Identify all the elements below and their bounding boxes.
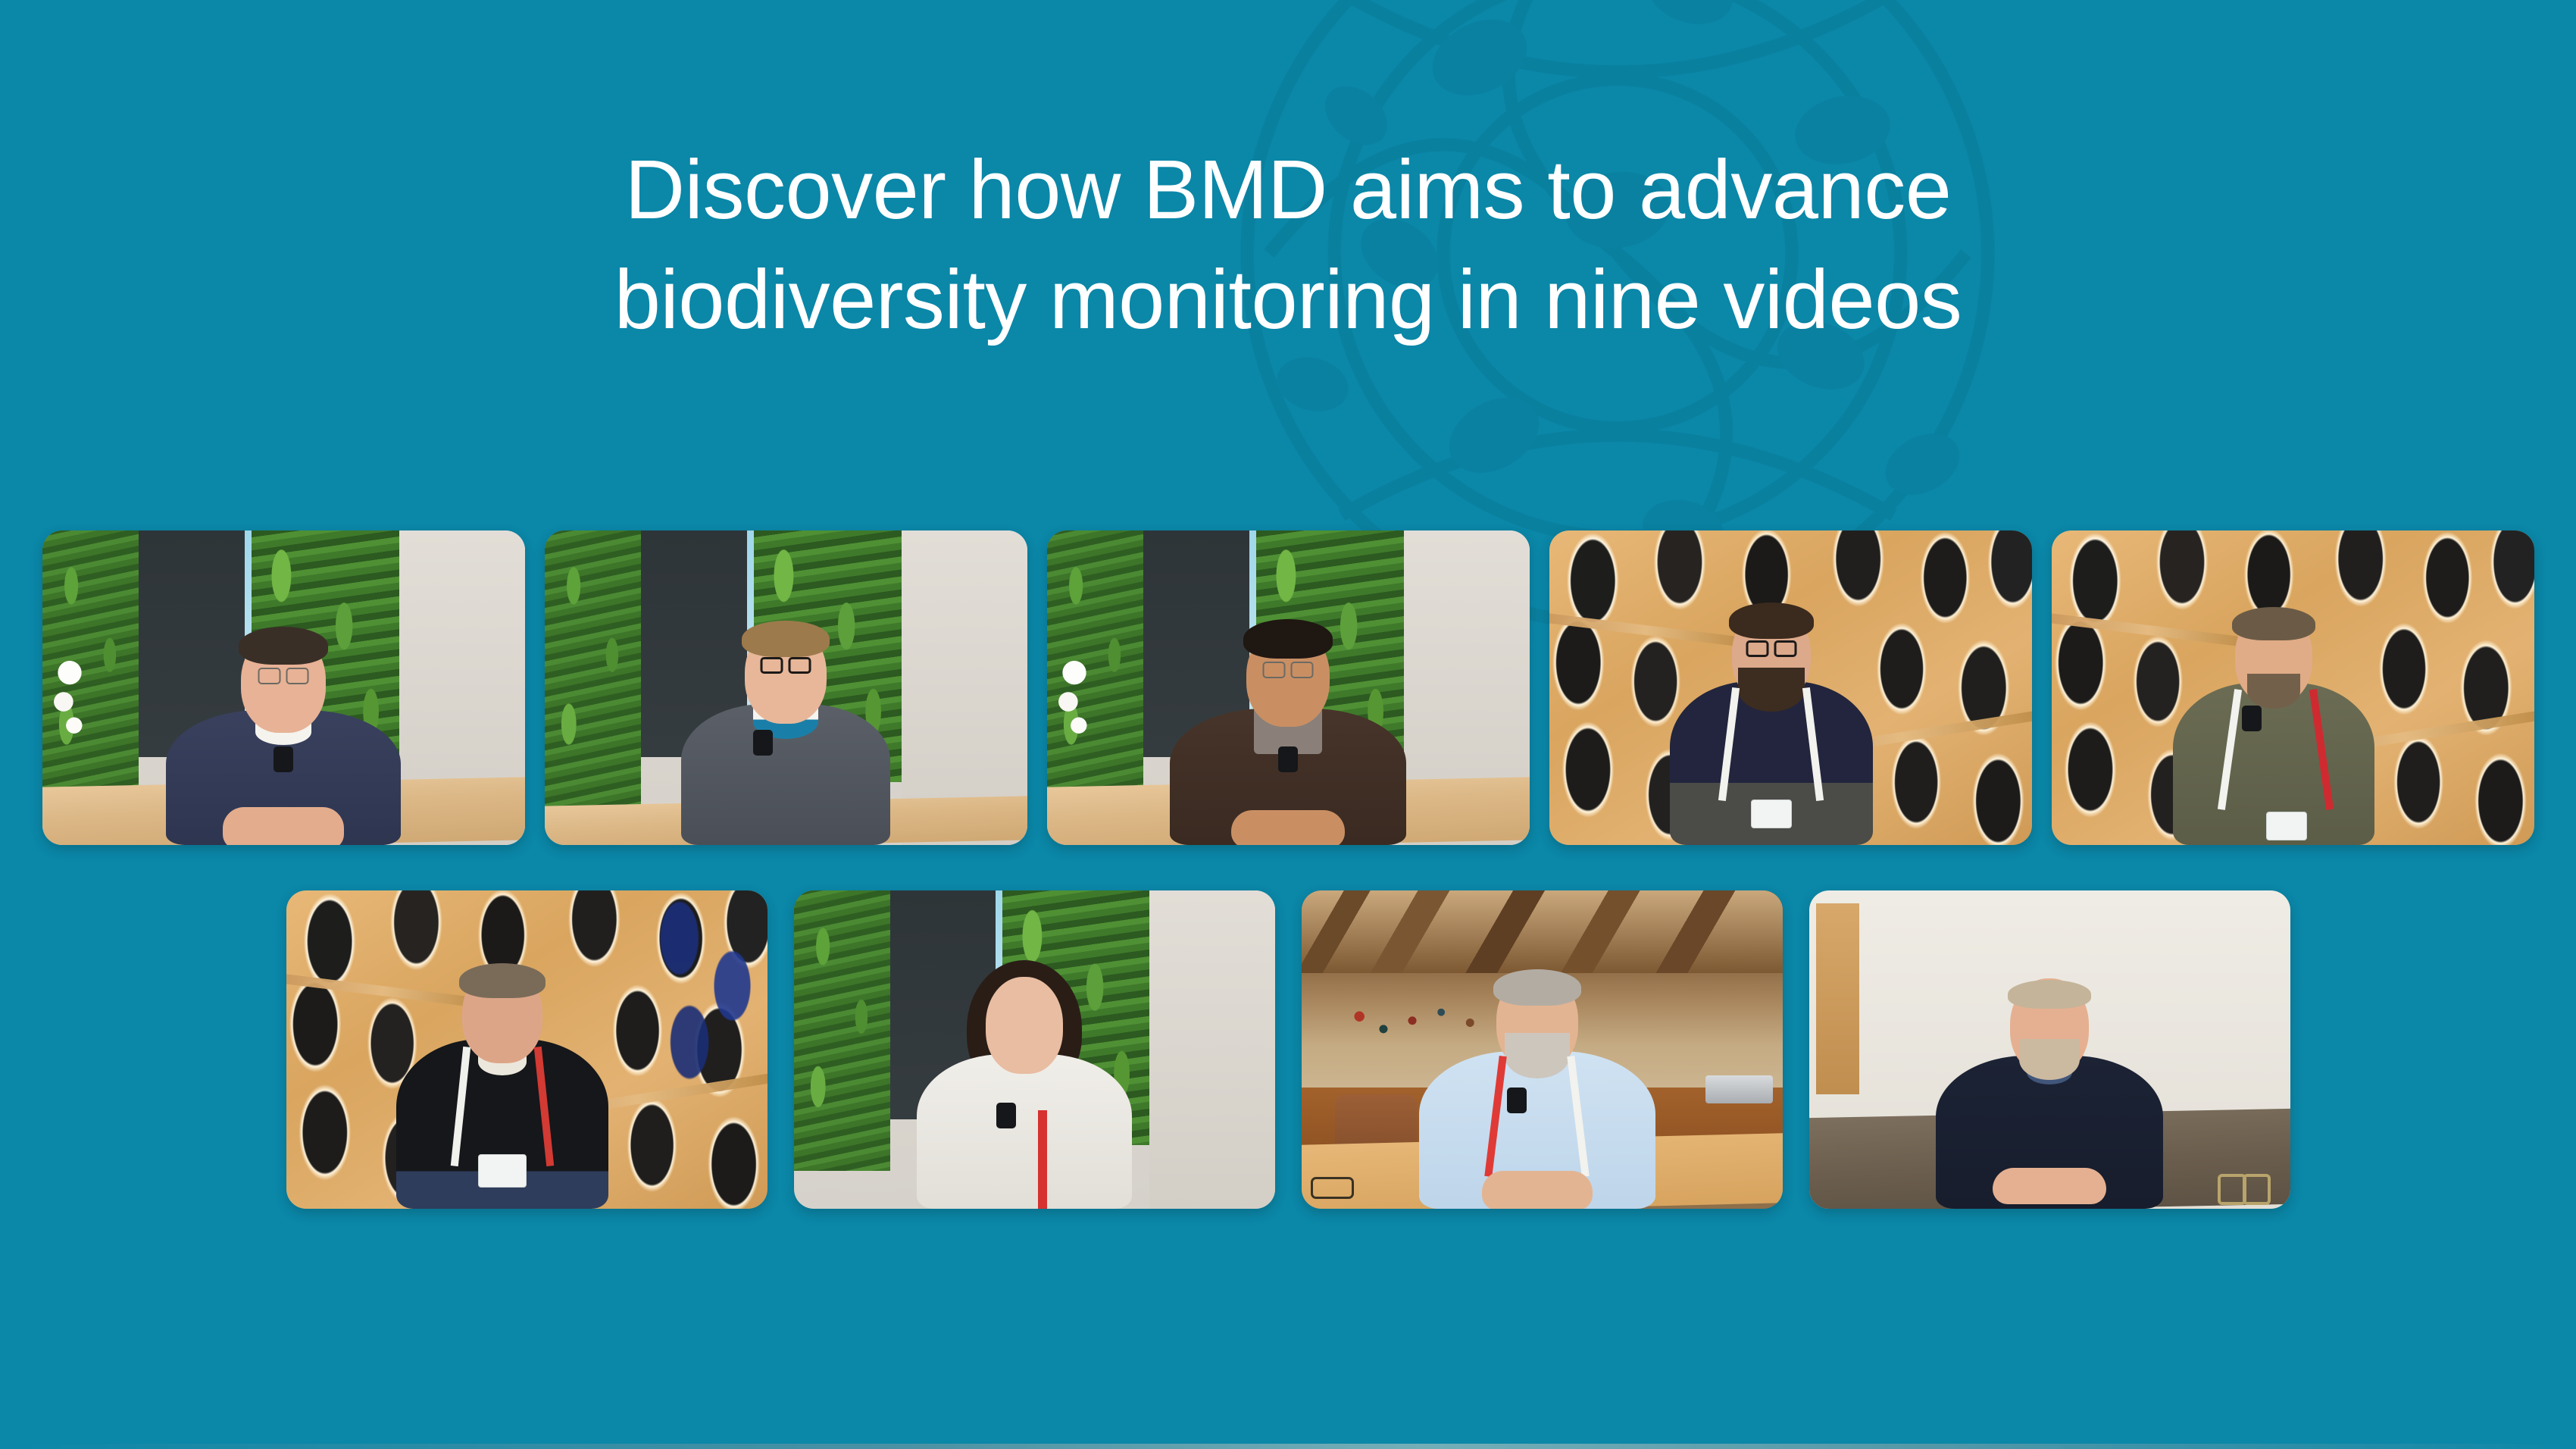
person-figure bbox=[389, 977, 616, 1209]
bottom-edge-sheen bbox=[0, 1444, 2576, 1449]
video-thumbnail-5[interactable] bbox=[2052, 530, 2534, 845]
person-figure bbox=[672, 639, 899, 845]
person-figure bbox=[2165, 621, 2382, 845]
video-thumbnail-7[interactable] bbox=[794, 890, 1275, 1209]
video-banner: Discover how BMD aims to advance biodive… bbox=[0, 0, 2576, 1449]
video-thumbnail-3[interactable] bbox=[1047, 530, 1530, 845]
person-figure bbox=[1662, 618, 1881, 845]
video-thumbnail-4[interactable] bbox=[1549, 530, 2032, 845]
person-figure bbox=[158, 648, 408, 845]
video-thumbnail-8[interactable] bbox=[1302, 890, 1783, 1209]
video-thumbnail-1[interactable] bbox=[42, 530, 525, 845]
person-figure bbox=[1928, 989, 2171, 1209]
video-thumbnail-6[interactable] bbox=[286, 890, 767, 1209]
person-figure bbox=[911, 981, 1138, 1209]
video-thumbnail-9[interactable] bbox=[1809, 890, 2290, 1209]
banner-title: Discover how BMD aims to advance biodive… bbox=[0, 135, 2576, 355]
person-figure bbox=[1412, 981, 1662, 1209]
person-figure bbox=[1163, 642, 1413, 845]
thumbnail-row-1 bbox=[0, 530, 2576, 845]
thumbnail-row-2 bbox=[0, 890, 2576, 1209]
video-thumbnail-2[interactable] bbox=[545, 530, 1027, 845]
